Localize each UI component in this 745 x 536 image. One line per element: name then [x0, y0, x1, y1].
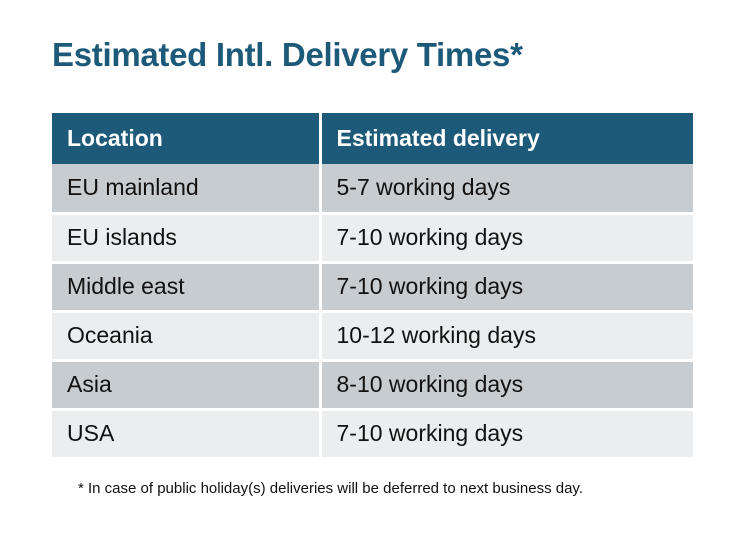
cell-delivery: 8-10 working days	[320, 360, 693, 409]
column-header-location: Location	[52, 113, 320, 164]
cell-location: EU islands	[52, 213, 320, 262]
table-row: EU mainland 5-7 working days	[52, 164, 693, 213]
cell-location: EU mainland	[52, 164, 320, 213]
cell-delivery: 7-10 working days	[320, 213, 693, 262]
delivery-table-container: Location Estimated delivery EU mainland …	[52, 113, 693, 460]
table-header: Location Estimated delivery	[52, 113, 693, 164]
table-row: Oceania 10-12 working days	[52, 311, 693, 360]
footnote-text: * In case of public holiday(s) deliverie…	[78, 480, 583, 497]
table-row: Middle east 7-10 working days	[52, 262, 693, 311]
cell-delivery: 5-7 working days	[320, 164, 693, 213]
estimated-delivery-times-table: Location Estimated delivery EU mainland …	[52, 113, 693, 460]
column-header-estimated-delivery: Estimated delivery	[320, 113, 693, 164]
table-row: EU islands 7-10 working days	[52, 213, 693, 262]
delivery-times-page: Estimated Intl. Delivery Times* Location…	[0, 0, 745, 536]
table-body: EU mainland 5-7 working days EU islands …	[52, 164, 693, 458]
table-row: Asia 8-10 working days	[52, 360, 693, 409]
cell-location: Oceania	[52, 311, 320, 360]
cell-delivery: 7-10 working days	[320, 262, 693, 311]
page-title: Estimated Intl. Delivery Times*	[52, 36, 523, 74]
cell-location: Asia	[52, 360, 320, 409]
cell-delivery: 7-10 working days	[320, 409, 693, 458]
cell-delivery: 10-12 working days	[320, 311, 693, 360]
cell-location: Middle east	[52, 262, 320, 311]
cell-location: USA	[52, 409, 320, 458]
table-header-row: Location Estimated delivery	[52, 113, 693, 164]
table-row: USA 7-10 working days	[52, 409, 693, 458]
